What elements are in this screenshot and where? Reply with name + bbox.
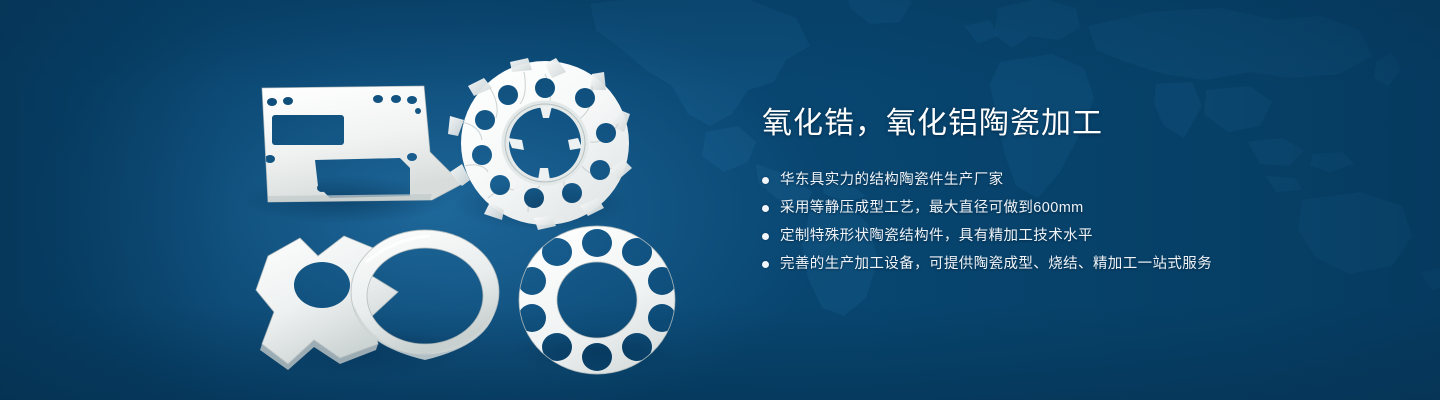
list-item: 定制特殊形状陶瓷结构件，具有精加工技术水平 — [762, 226, 1382, 247]
banner-copy: 氧化锆，氧化铝陶瓷加工 华东具实力的结构陶瓷件生产厂家 采用等静压成型工艺，最大… — [762, 104, 1382, 275]
feature-text: 定制特殊形状陶瓷结构件，具有精加工技术水平 — [780, 226, 1093, 247]
list-item: 采用等静压成型工艺，最大直径可做到600mm — [762, 198, 1382, 219]
feature-text: 华东具实力的结构陶瓷件生产厂家 — [780, 170, 1004, 191]
list-item: 完善的生产加工设备，可提供陶瓷成型、烧结、精加工一站式服务 — [762, 254, 1382, 275]
bullet-dot-icon — [762, 261, 769, 268]
page-title: 氧化锆，氧化铝陶瓷加工 — [762, 104, 1382, 144]
bullet-dot-icon — [762, 233, 769, 240]
hero-banner: 氧化锆，氧化铝陶瓷加工 华东具实力的结构陶瓷件生产厂家 采用等静压成型工艺，最大… — [0, 0, 1440, 400]
bullet-dot-icon — [762, 205, 769, 212]
bullet-dot-icon — [762, 177, 769, 184]
ceramic-machined-plate — [262, 86, 462, 202]
feature-text: 采用等静压成型工艺，最大直径可做到600mm — [780, 198, 1084, 219]
ceramic-perforated-disc — [519, 226, 675, 374]
feature-text: 完善的生产加工设备，可提供陶瓷成型、烧结、精加工一站式服务 — [780, 254, 1212, 275]
list-item: 华东具实力的结构陶瓷件生产厂家 — [762, 170, 1382, 191]
product-photo-group — [0, 0, 760, 400]
feature-list: 华东具实力的结构陶瓷件生产厂家 采用等静压成型工艺，最大直径可做到600mm 定… — [762, 170, 1382, 275]
